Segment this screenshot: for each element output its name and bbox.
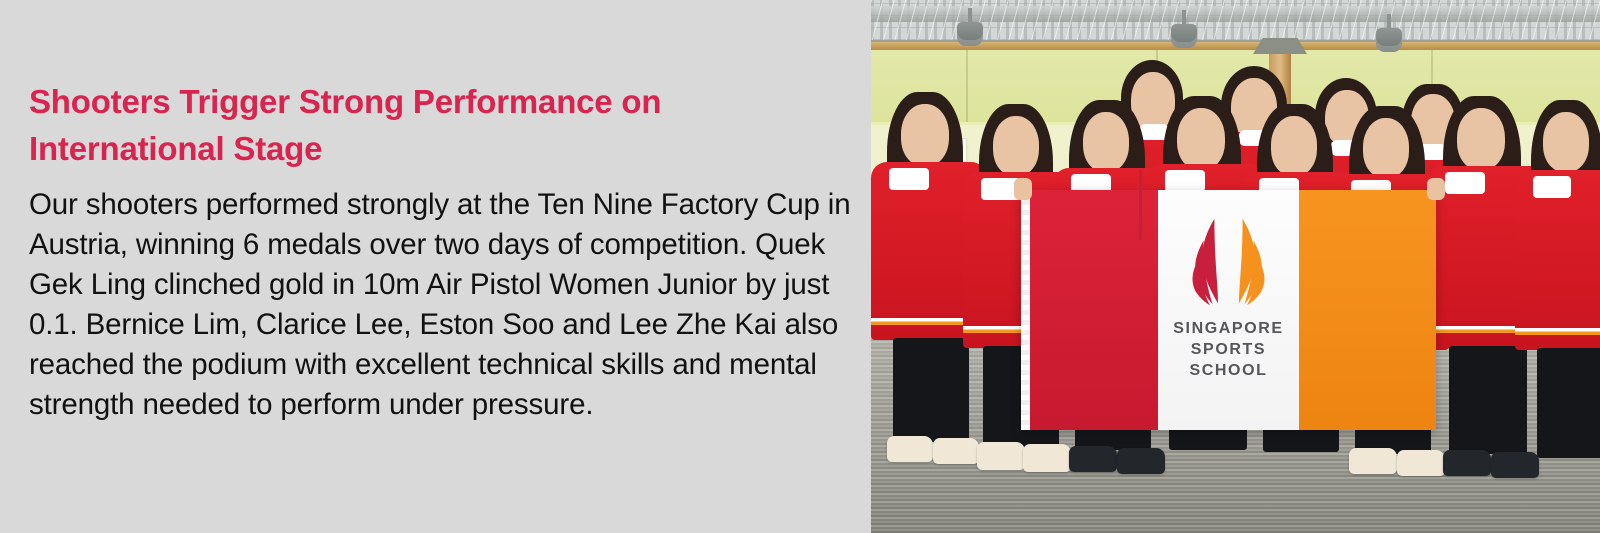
hand-grip-left — [1014, 178, 1032, 200]
ceiling-lamp — [957, 16, 983, 50]
team-photo: 31 32 33 34 35 37 40 42 43 T9F — [871, 0, 1600, 533]
logo-line-2: SPORTS SCHOOL — [1158, 339, 1299, 381]
ceiling-lamp — [1376, 22, 1402, 56]
sports-school-logo: SINGAPORE SPORTS SCHOOL — [1158, 216, 1299, 381]
team-flag: SINGAPORE SPORTS SCHOOL — [1021, 190, 1436, 430]
wall-seam — [966, 50, 968, 122]
flag-hem — [1021, 190, 1030, 430]
flame-emblem — [1191, 216, 1266, 308]
flag-stripe-white: SINGAPORE SPORTS SCHOOL — [1158, 190, 1299, 430]
flag-cord — [1139, 170, 1142, 240]
article-body: Our shooters performed strongly at the T… — [29, 185, 854, 425]
flame-orange-icon — [1230, 216, 1266, 308]
text-panel: Shooters Trigger Strong Performance on I… — [0, 0, 871, 533]
flag-stripe-red — [1021, 190, 1158, 430]
logo-line-1: SINGAPORE — [1158, 318, 1299, 339]
hand-grip-right — [1427, 178, 1445, 200]
logo-text: SINGAPORE SPORTS SCHOOL — [1158, 318, 1299, 381]
ceiling-lamp — [1171, 18, 1197, 52]
page-title: Shooters Trigger Strong Performance on I… — [29, 78, 769, 172]
flame-red-icon — [1191, 216, 1227, 308]
flag-stripe-orange — [1299, 190, 1436, 430]
newsletter-slide: Shooters Trigger Strong Performance on I… — [0, 0, 1600, 533]
